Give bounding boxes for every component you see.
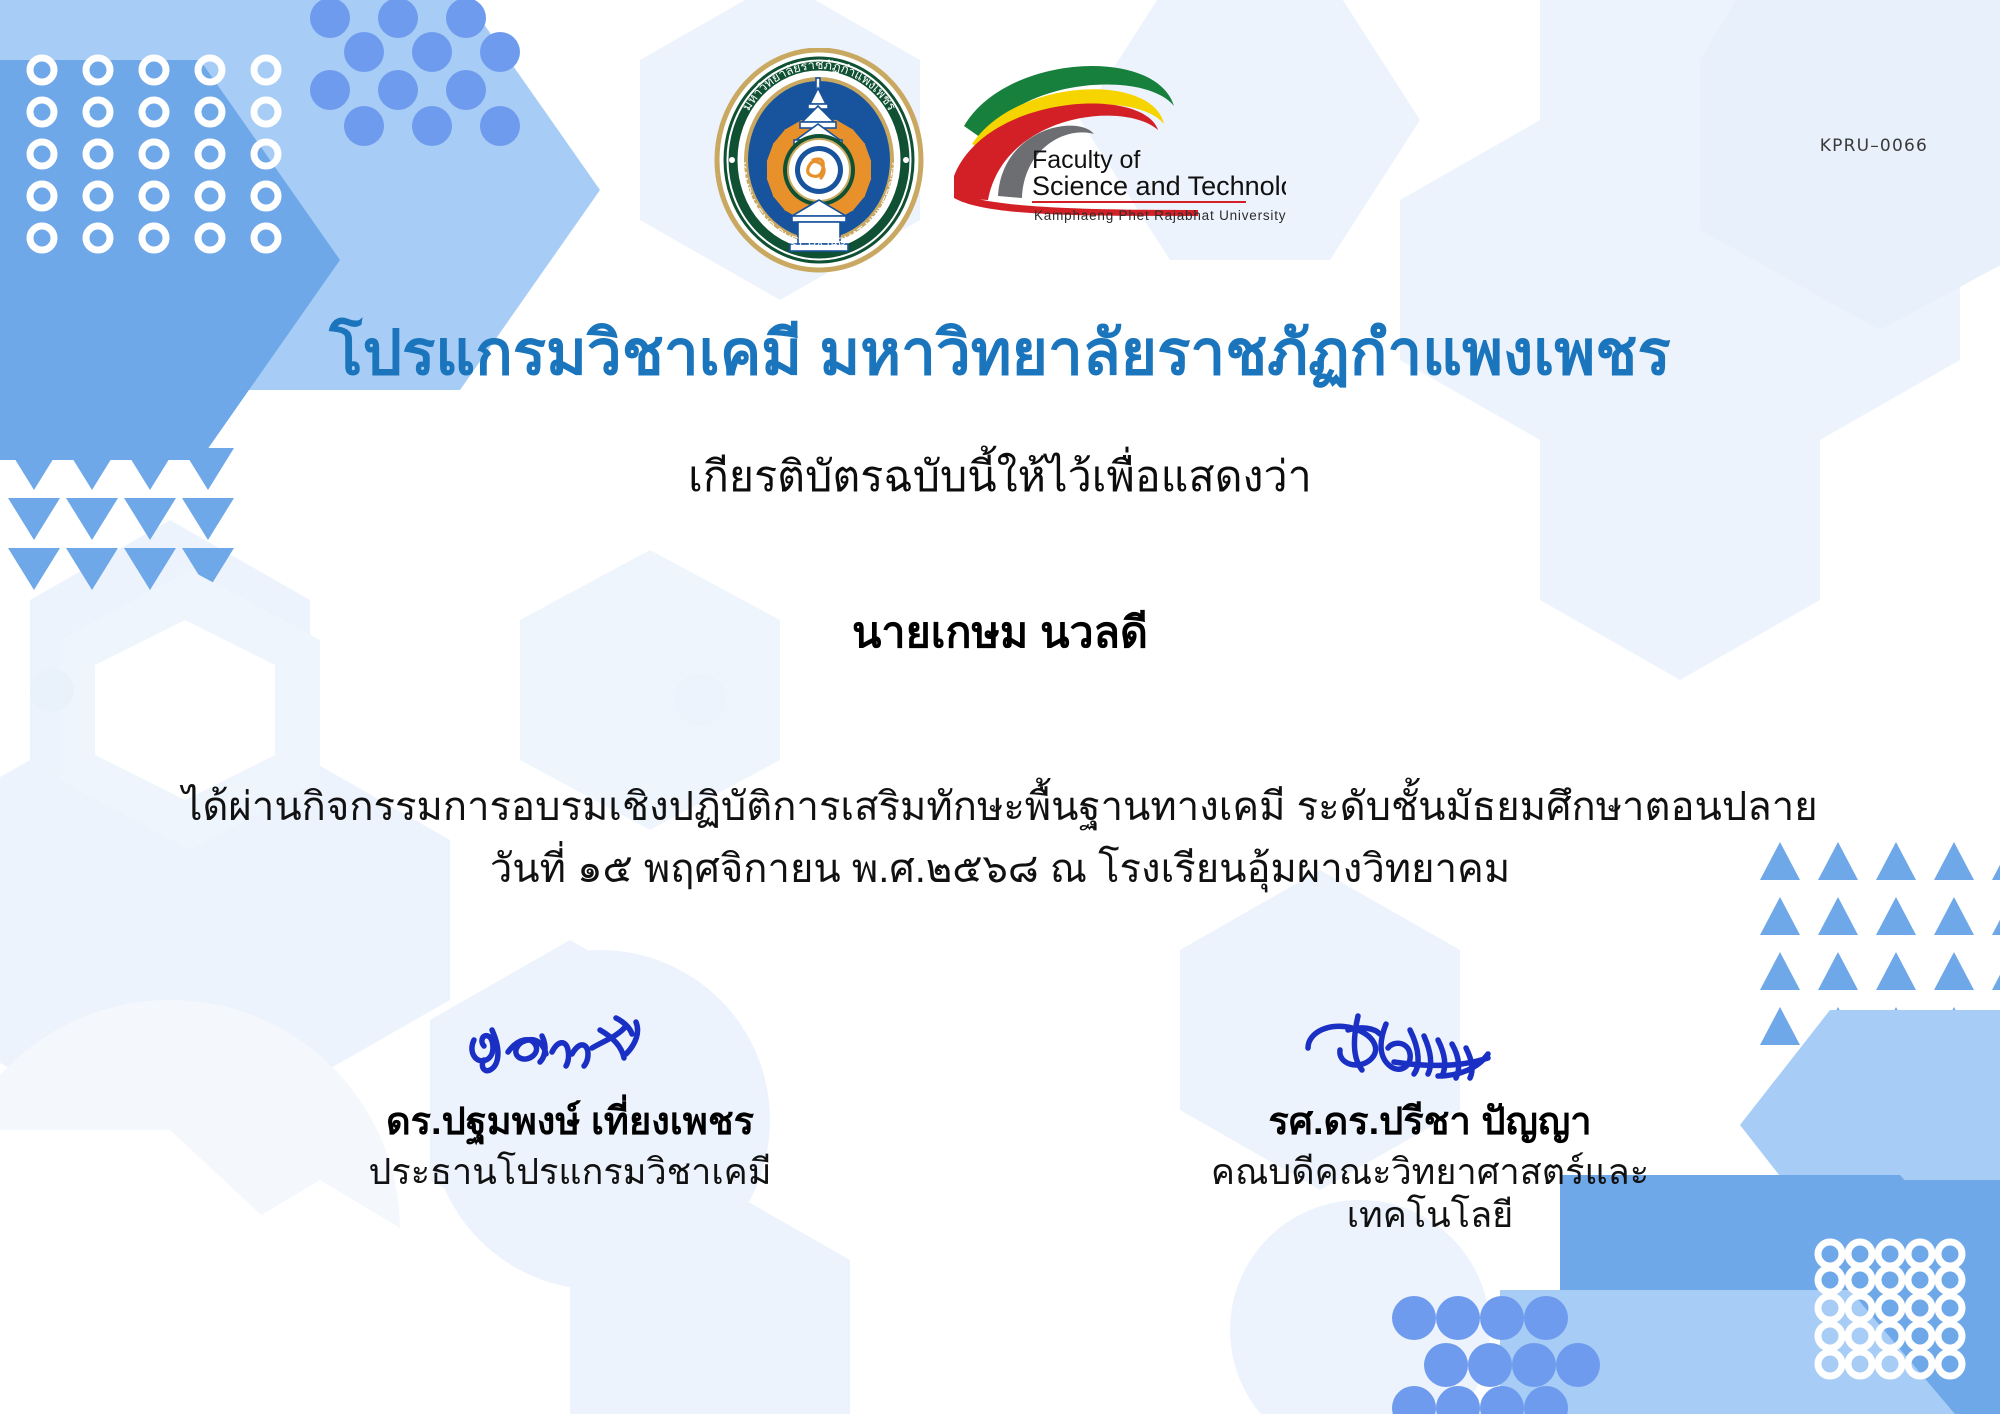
page-title: โปรแกรมวิชาเคมี มหาวิทยาลัยราชภัฏกำแพงเพ… bbox=[0, 318, 2000, 389]
handwritten-signature-right bbox=[1150, 1000, 1710, 1096]
signature-role-right: คณบดีคณะวิทยาศาสตร์และเทคโนโลยี bbox=[1150, 1150, 1710, 1236]
certificate-content: KPRU–0066 bbox=[0, 0, 2000, 1414]
body-line-1: ได้ผ่านกิจกรรมการอบรมเชิงปฏิบัติการเสริม… bbox=[0, 776, 2000, 838]
signature-name-left: ดร.ปฐมพงษ์ เที่ยงเพชร bbox=[290, 1100, 850, 1146]
logo-row: มหาวิทยาลัยราชภัฏกำแพงเพชร KAMPHAENG PHE… bbox=[0, 48, 2000, 278]
certificate-page: KPRU–0066 bbox=[0, 0, 2000, 1414]
signature-name-right: รศ.ดร.ปรีชา ปัญญา bbox=[1150, 1100, 1710, 1146]
certificate-body: ได้ผ่านกิจกรรมการอบรมเชิงปฏิบัติการเสริม… bbox=[0, 776, 2000, 900]
certificate-subtitle: เกียรติบัตรฉบับนี้ให้ไว้เพื่อแสดงว่า bbox=[0, 442, 2000, 510]
faculty-line1: Faculty of bbox=[1032, 146, 1140, 174]
faculty-line3: Kamphaeng Phet Rajabhat University bbox=[1034, 208, 1286, 223]
faculty-line2: Science and Technology bbox=[1032, 171, 1286, 201]
signature-block-left: ดร.ปฐมพงษ์ เที่ยงเพชร ประธานโปรแกรมวิชาเ… bbox=[290, 1000, 850, 1236]
recipient-name: นายเกษม นวลดี bbox=[0, 598, 2000, 666]
signature-row: ดร.ปฐมพงษ์ เที่ยงเพชร ประธานโปรแกรมวิชาเ… bbox=[0, 1000, 2000, 1236]
body-line-2: วันที่ ๑๕ พฤศจิกายน พ.ศ.๒๕๖๘ ณ โรงเรียนอ… bbox=[0, 838, 2000, 900]
university-seal-icon: มหาวิทยาลัยราชภัฏกำแพงเพชร KAMPHAENG PHE… bbox=[714, 48, 924, 278]
faculty-logo: Faculty of Science and Technology Kampha… bbox=[946, 48, 1286, 233]
signature-block-right: รศ.ดร.ปรีชา ปัญญา คณบดีคณะวิทยาศาสตร์และ… bbox=[1150, 1000, 1710, 1236]
signature-role-left: ประธานโปรแกรมวิชาเคมี bbox=[290, 1150, 850, 1193]
handwritten-signature-left bbox=[290, 1000, 850, 1096]
